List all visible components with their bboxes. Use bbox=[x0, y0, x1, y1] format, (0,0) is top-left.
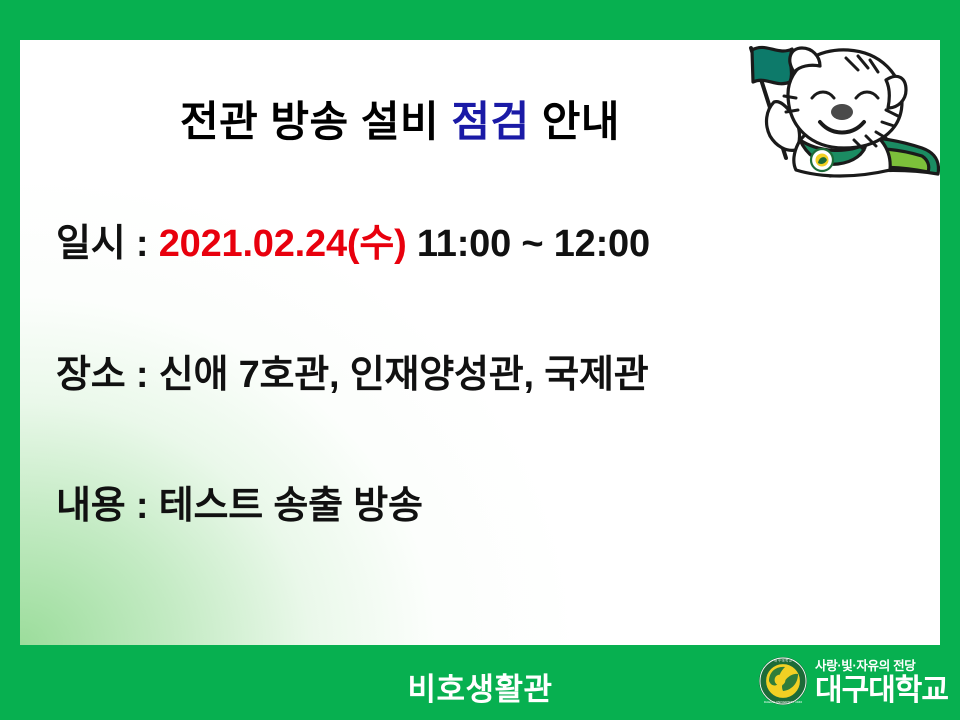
title-text-after: 안내 bbox=[530, 98, 620, 145]
detail-value-date: 2021.02.24(수) bbox=[159, 223, 407, 265]
detail-row-description: 내용 : 테스트 송출 방송 bbox=[56, 474, 940, 529]
footer-bar: 비호생활관 대 구 대 학 교 DAEGU UNIVERSITY 194 bbox=[0, 645, 960, 720]
detail-row-date: 일시 : 2021.02.24(수) 11:00 ~ 12:00 bbox=[56, 212, 940, 267]
white-tiger-mascot bbox=[726, 36, 940, 188]
svg-text:DAEGU UNIVERSITY 1946: DAEGU UNIVERSITY 1946 bbox=[764, 700, 802, 704]
university-logo: 대 구 대 학 교 DAEGU UNIVERSITY 1946 사랑·빛·자유의… bbox=[758, 653, 948, 713]
svg-text:대 구 대 학 교: 대 구 대 학 교 bbox=[774, 657, 792, 662]
university-wordmark: 대구대학교 bbox=[815, 676, 948, 706]
detail-row-location: 장소 : 신애 7호관, 인재양성관, 국제관 bbox=[56, 343, 940, 398]
detail-label-date: 일시 : bbox=[56, 223, 159, 265]
detail-value-location: 신애 7호관, 인재양성관, 국제관 bbox=[159, 354, 649, 396]
university-tagline: 사랑·빛·자유의 전당 bbox=[815, 660, 916, 673]
university-logo-text: 사랑·빛·자유의 전당 대구대학교 bbox=[815, 660, 948, 706]
detail-value-description: 테스트 송출 방송 bbox=[159, 485, 423, 527]
detail-label-description: 내용 : bbox=[56, 485, 159, 527]
poster-root: 전관 방송 설비 점검 안내 일시 : 2021.02.24(수) 11:00 … bbox=[0, 0, 960, 720]
detail-label-location: 장소 : bbox=[56, 354, 159, 396]
title-text-before: 전관 방송 설비 bbox=[180, 98, 451, 145]
title-text-highlight: 점검 bbox=[451, 98, 529, 145]
university-emblem-icon: 대 구 대 학 교 DAEGU UNIVERSITY 1946 bbox=[758, 656, 808, 711]
page-title: 전관 방송 설비 점검 안내 bbox=[20, 88, 780, 149]
detail-value-time: 11:00 ~ 12:00 bbox=[407, 223, 650, 265]
